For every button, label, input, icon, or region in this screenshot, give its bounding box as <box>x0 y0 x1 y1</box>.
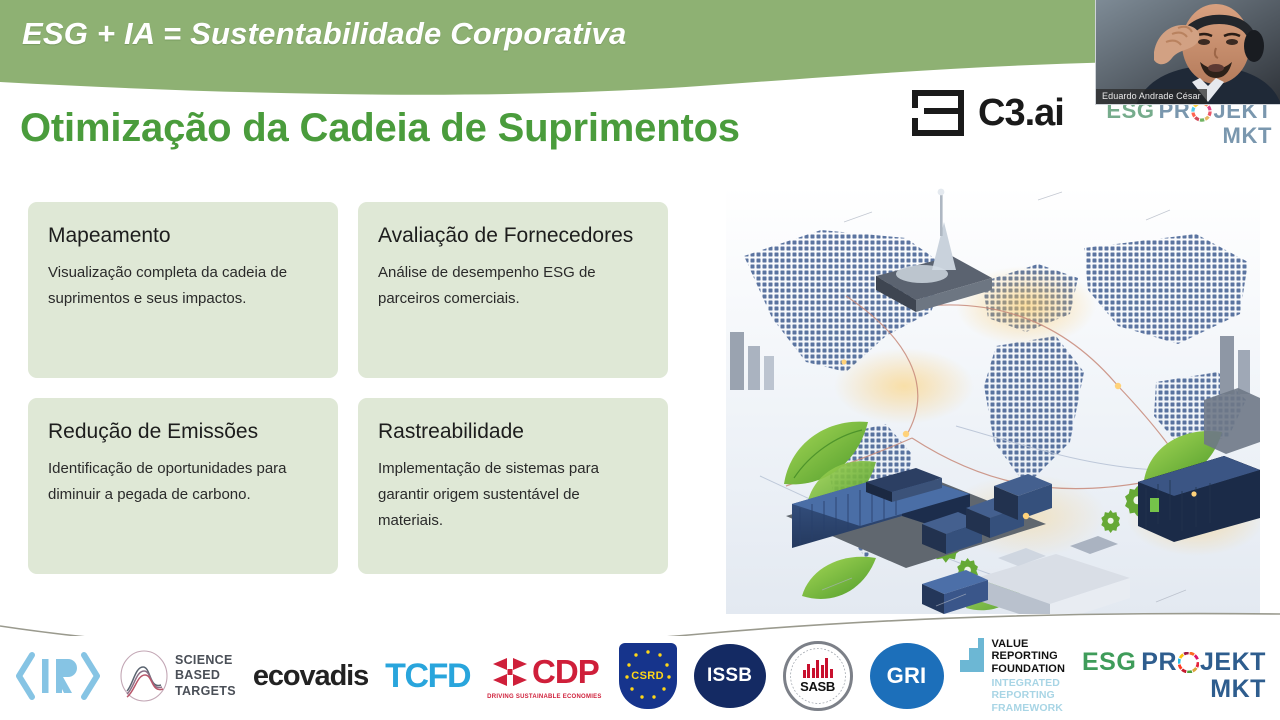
card-body: Análise de desempenho ESG de parceiros c… <box>378 260 648 312</box>
cdp-tagline: DRIVING SUSTAINABLE ECONOMIES <box>487 694 601 700</box>
sasb-ring-text <box>786 644 850 708</box>
ecovadis-wordmark: ecovadis <box>253 660 368 693</box>
card-title: Mapeamento <box>48 222 318 251</box>
card-body: Visualização completa da cadeia de supri… <box>48 260 318 312</box>
sbt-wordmark: SCIENCE BASED TARGETS <box>175 653 236 699</box>
issb-label: ISSB <box>707 665 752 687</box>
epm-esg: ESG <box>1082 650 1136 675</box>
card-body: Identificação de oportunidades para dimi… <box>48 456 318 508</box>
sasb-logo: SASB <box>783 641 853 711</box>
c3ai-logo: C3.ai <box>910 88 1064 138</box>
webcam-video-tile[interactable]: Eduardo Andrade César <box>1095 0 1280 105</box>
csrd-label: CSRD <box>631 670 664 682</box>
presentation-slide: ESG + IA = Sustentabilidade Corporativa … <box>0 0 1280 720</box>
vrf-mark-icon <box>960 638 986 672</box>
sbt-mark-icon <box>119 649 169 703</box>
tcfd-logo: TCFD <box>385 641 470 711</box>
epm-pr: PR <box>1141 650 1177 675</box>
tcfd-wordmark: TCFD <box>385 657 470 696</box>
card-title: Avaliação de Fornecedores <box>378 222 648 251</box>
ir-logo <box>14 641 102 711</box>
cdp-wordmark: CDP <box>532 653 599 691</box>
card-body: Implementação de sistemas para garantir … <box>378 456 648 534</box>
epm-mkt: MKT <box>1210 677 1266 702</box>
vrf-title: VALUE REPORTING FOUNDATION <box>991 638 1065 675</box>
card-avaliacao-de-fornecedores[interactable]: Avaliação de Fornecedores Análise de des… <box>358 202 668 378</box>
partner-logo-strip: SCIENCE BASED TARGETS ecovadis TCFD <box>0 636 1280 720</box>
esg-projekt-mkt-logo: ESG PR <box>1082 641 1266 711</box>
ecovadis-logo: ecovadis <box>253 641 368 711</box>
issb-logo: ISSB <box>694 641 766 711</box>
card-title: Rastreabilidade <box>378 418 648 447</box>
science-based-targets-logo: SCIENCE BASED TARGETS <box>119 641 236 711</box>
c3ai-mark-icon <box>910 88 966 138</box>
card-reducao-de-emissoes[interactable]: Redução de Emissões Identificação de opo… <box>28 398 338 574</box>
cdp-mark-icon <box>490 652 530 692</box>
esg-projekt-mkt-watermark: ESG PR JEKT MKT <box>1106 100 1272 147</box>
feature-card-grid: Mapeamento Visualização completa da cade… <box>28 202 668 574</box>
page-title: Otimização da Cadeia de Suprimentos <box>20 106 740 151</box>
gri-logo: GRI <box>870 641 944 711</box>
card-mapeamento[interactable]: Mapeamento Visualização completa da cade… <box>28 202 338 378</box>
vrf-subtitle: INTEGRATED REPORTING FRAMEWORK <box>991 677 1065 714</box>
watermark-mkt: MKT <box>1223 125 1272 147</box>
sdg-wheel-icon <box>1178 652 1199 673</box>
value-reporting-foundation-logo: VALUE REPORTING FOUNDATION INTEGRATED RE… <box>960 641 1065 711</box>
cdp-logo: CDP DRIVING SUSTAINABLE ECONOMIES <box>487 641 601 711</box>
webcam-participant-name: Eduardo Andrade César <box>1096 89 1207 104</box>
epm-jekt: JEKT <box>1200 650 1266 675</box>
card-title: Redução de Emissões <box>48 418 318 447</box>
c3ai-wordmark: C3.ai <box>978 94 1064 132</box>
banner-title: ESG + IA = Sustentabilidade Corporativa <box>22 16 626 52</box>
supply-chain-illustration <box>726 186 1260 614</box>
gri-label: GRI <box>887 663 927 689</box>
card-rastreabilidade[interactable]: Rastreabilidade Implementação de sistema… <box>358 398 668 574</box>
csrd-logo: CSRD <box>619 641 677 711</box>
